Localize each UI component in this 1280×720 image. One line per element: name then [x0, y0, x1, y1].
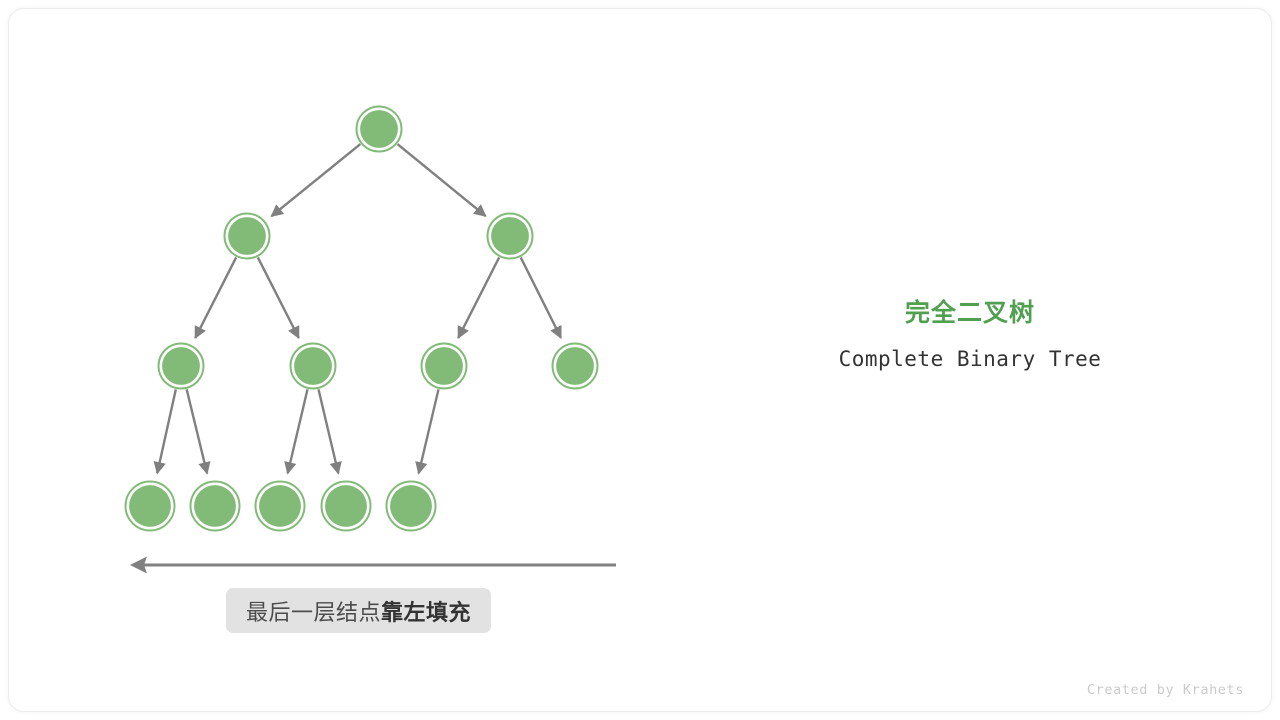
tree-node-disc — [390, 485, 432, 527]
tree-node[interactable] — [291, 344, 336, 389]
tree-node[interactable] — [256, 482, 305, 531]
tree-node[interactable] — [357, 107, 402, 152]
tree-edge — [187, 389, 207, 473]
tree-node-layer — [126, 107, 598, 531]
tree-node[interactable] — [322, 482, 371, 531]
tree-node[interactable] — [553, 344, 598, 389]
tree-edge-layer — [157, 144, 561, 473]
tree-node-disc — [491, 217, 529, 255]
tree-node-disc — [425, 347, 463, 385]
tree-edge — [458, 257, 499, 338]
caption-prefix-text: 最后一层结点 — [246, 595, 381, 627]
tree-edge — [157, 389, 176, 473]
tree-node-disc — [556, 347, 594, 385]
tree-node-disc — [162, 347, 200, 385]
tree-node-disc — [129, 485, 171, 527]
tree-edge — [288, 389, 308, 473]
tree-node-disc — [325, 485, 367, 527]
tree-edge — [319, 389, 339, 473]
tree-node[interactable] — [159, 344, 204, 389]
tree-node[interactable] — [191, 482, 240, 531]
tree-node-disc — [194, 485, 236, 527]
tree-edge — [258, 257, 299, 338]
credit-text: Created by Krahets — [1087, 682, 1244, 698]
page-subtitle: Complete Binary Tree — [700, 344, 1240, 374]
tree-node-disc — [228, 217, 266, 255]
tree-node-disc — [360, 110, 398, 148]
figure-title-block: 完全二叉树 Complete Binary Tree — [700, 296, 1240, 374]
tree-edge — [398, 144, 486, 216]
tree-edge — [271, 144, 360, 216]
caption-badge: 最后一层结点靠左填充 — [226, 588, 491, 633]
tree-node-disc — [294, 347, 332, 385]
tree-node[interactable] — [422, 344, 467, 389]
tree-edge — [419, 389, 439, 473]
fill-direction-annotation — [130, 557, 616, 574]
tree-edge — [521, 257, 561, 337]
tree-edge — [195, 257, 236, 338]
tree-node[interactable] — [387, 482, 436, 531]
page-title: 完全二叉树 — [700, 296, 1240, 330]
tree-node[interactable] — [126, 482, 175, 531]
figure-canvas: 完全二叉树 Complete Binary Tree 最后一层结点靠左填充 Cr… — [0, 0, 1280, 720]
tree-node[interactable] — [225, 214, 270, 259]
caption-emphasis-text: 靠左填充 — [381, 595, 471, 627]
tree-node-disc — [259, 485, 301, 527]
tree-node[interactable] — [488, 214, 533, 259]
